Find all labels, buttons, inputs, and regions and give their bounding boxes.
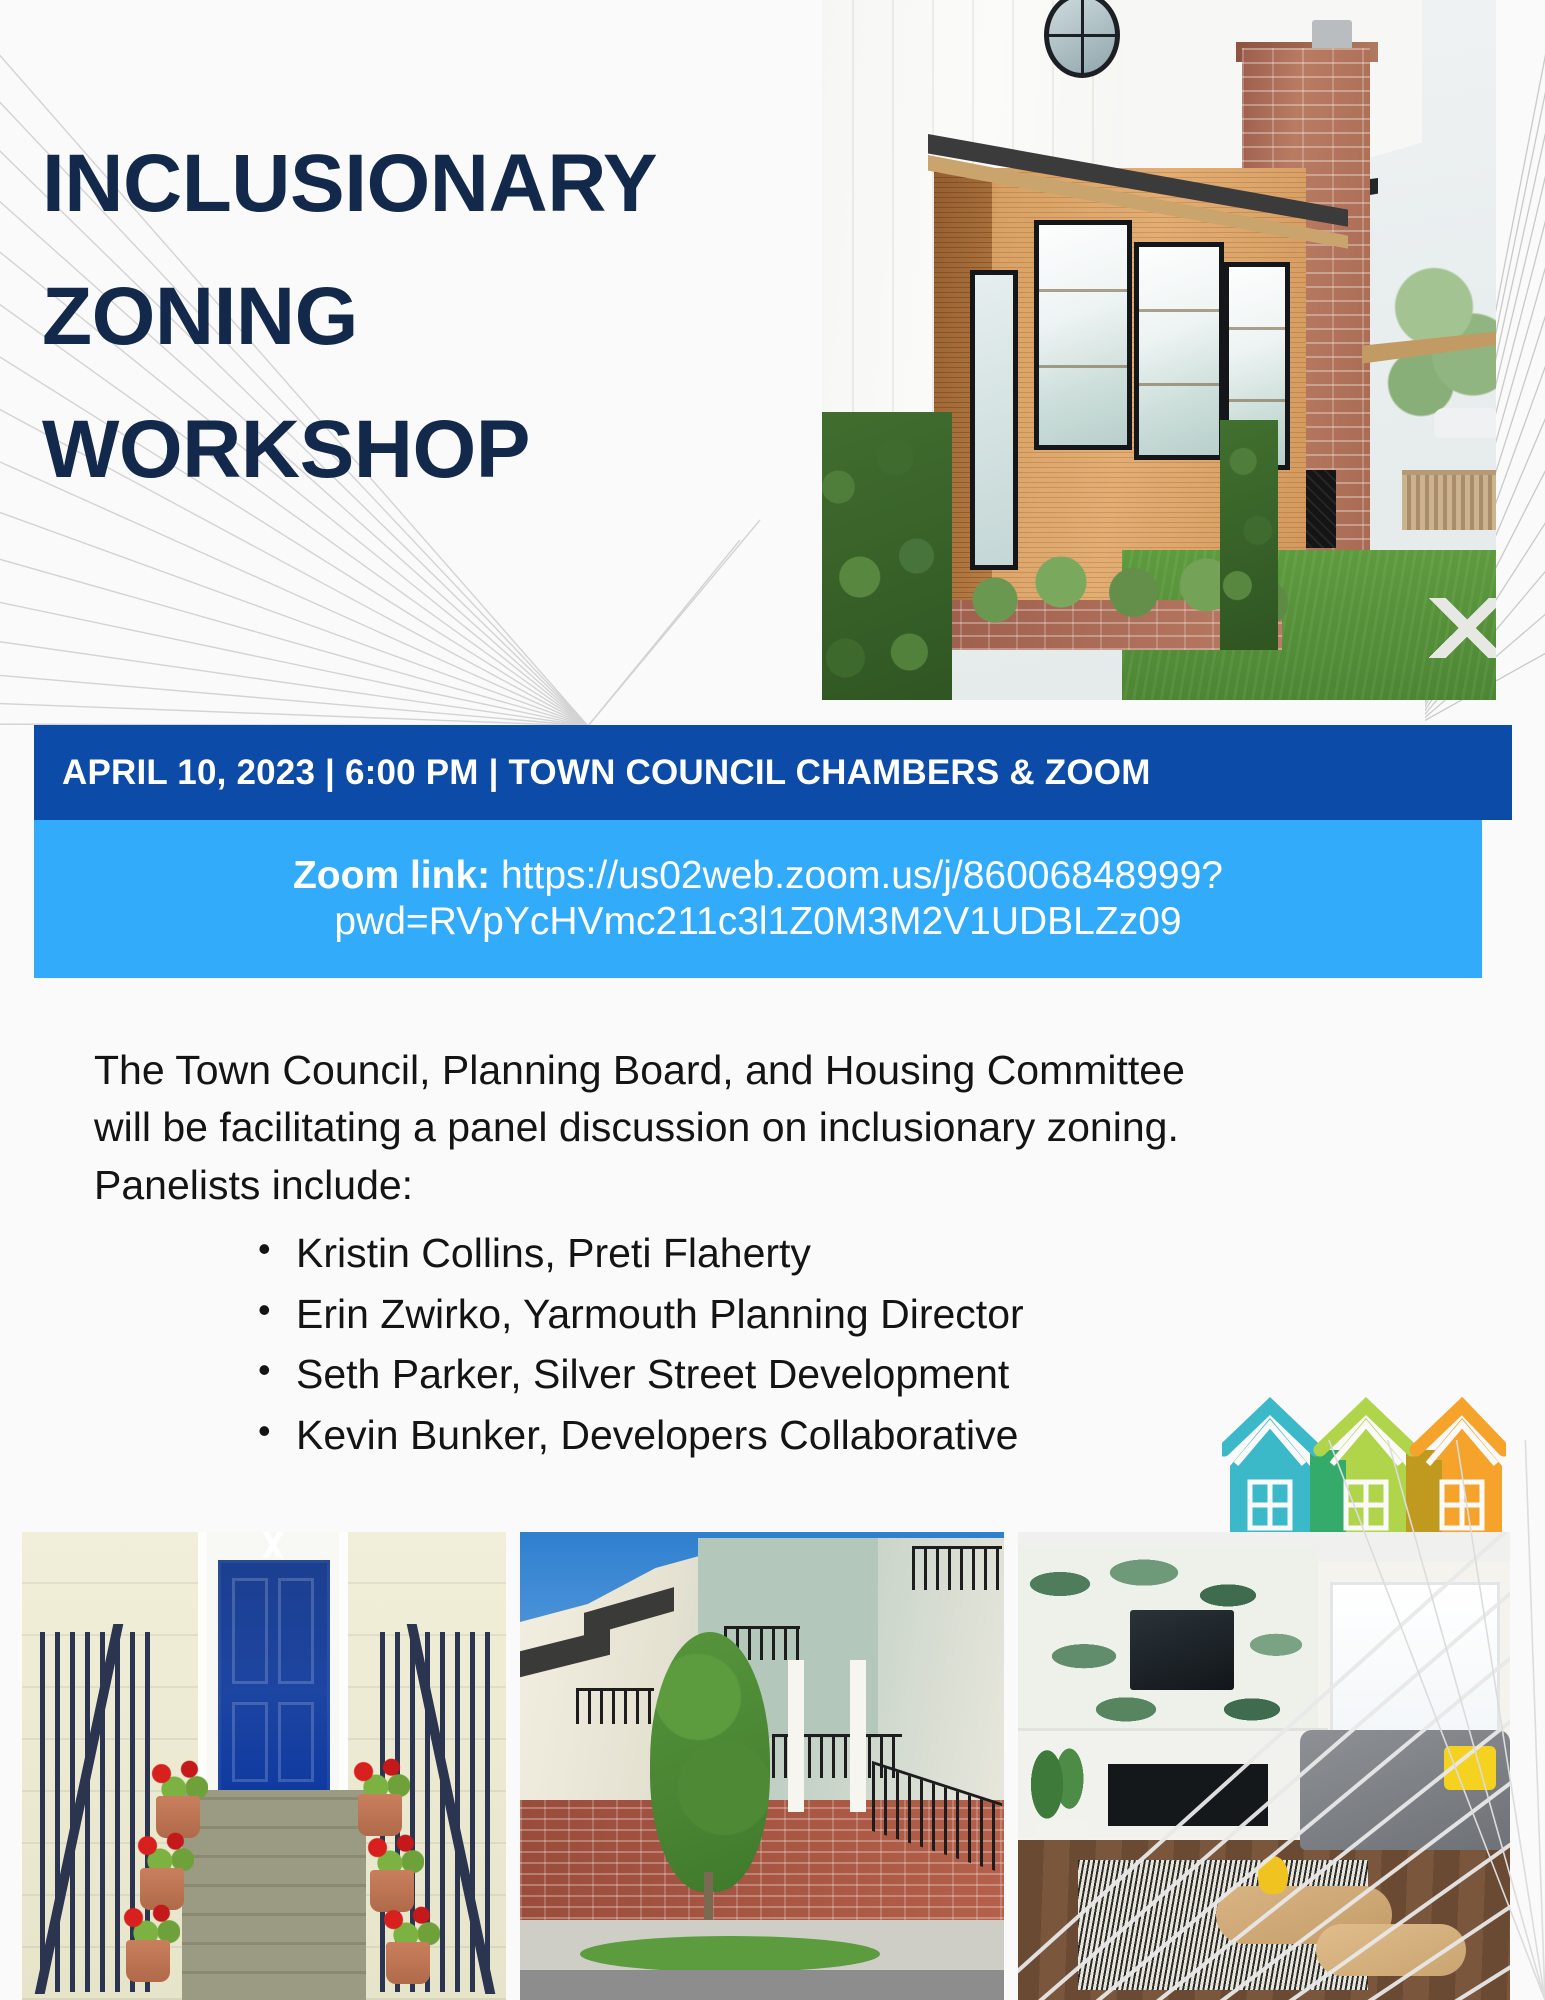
blue-door-steps-photo <box>22 1532 506 2000</box>
zoom-link-label: Zoom link: <box>293 854 490 897</box>
title-line-3: WORKSHOP <box>42 384 802 517</box>
flyer-page: INCLUSIONARY ZONING WORKSHOP APRIL 10, 2… <box>0 0 1545 2000</box>
hero-window-2 <box>1134 242 1224 460</box>
list-item: Kevin Bunker, Developers Collaborative <box>250 1412 1350 1459</box>
zoom-url-line-2[interactable]: pwd=RVpYcHVmc211c3l1Z0M3M2V1UDBLZz09 <box>334 900 1181 943</box>
townhouse-street-photo <box>520 1532 1004 2000</box>
page-title: INCLUSIONARY ZONING WORKSHOP <box>42 118 802 516</box>
zoom-link-banner[interactable]: Zoom link: https://us02web.zoom.us/j/860… <box>34 820 1482 978</box>
hero-window-1 <box>1034 220 1132 450</box>
title-line-1: INCLUSIONARY <box>42 118 802 251</box>
hero-stone-pavers <box>1412 598 1496 658</box>
hero-parked-car <box>1434 408 1496 438</box>
body-line-1: The Town Council, Planning Board, and Ho… <box>94 1042 1394 1099</box>
zoom-url-line-1[interactable]: https://us02web.zoom.us/j/86006848999? <box>501 854 1223 897</box>
body-line-3: Panelists include: <box>94 1157 1394 1214</box>
body-paragraph: The Town Council, Planning Board, and Ho… <box>94 1042 1394 1214</box>
bottom-photo-row <box>0 1532 1545 2000</box>
date-banner: APRIL 10, 2023 | 6:00 PM | TOWN COUNCIL … <box>34 725 1512 820</box>
date-banner-text: APRIL 10, 2023 | 6:00 PM | TOWN COUNCIL … <box>34 753 1151 793</box>
list-item: Seth Parker, Silver Street Development <box>250 1351 1350 1398</box>
list-item: Erin Zwirko, Yarmouth Planning Director <box>250 1291 1350 1338</box>
hero-wood-bench <box>1402 470 1496 530</box>
list-item: Kristin Collins, Preti Flaherty <box>250 1230 1350 1277</box>
hero-hedge-column <box>1220 420 1278 650</box>
hero-modern-house-photo <box>822 0 1496 700</box>
panelists-list: Kristin Collins, Preti Flaherty Erin Zwi… <box>250 1230 1350 1473</box>
living-room-photo <box>1018 1532 1510 2000</box>
zoom-link-text: Zoom link: https://us02web.zoom.us/j/860… <box>293 853 1223 945</box>
hero-hedge-left <box>822 412 952 700</box>
body-line-2: will be facilitating a panel discussion … <box>94 1099 1394 1156</box>
three-houses-icon <box>1222 1388 1506 1534</box>
title-line-2: ZONING <box>42 251 802 384</box>
